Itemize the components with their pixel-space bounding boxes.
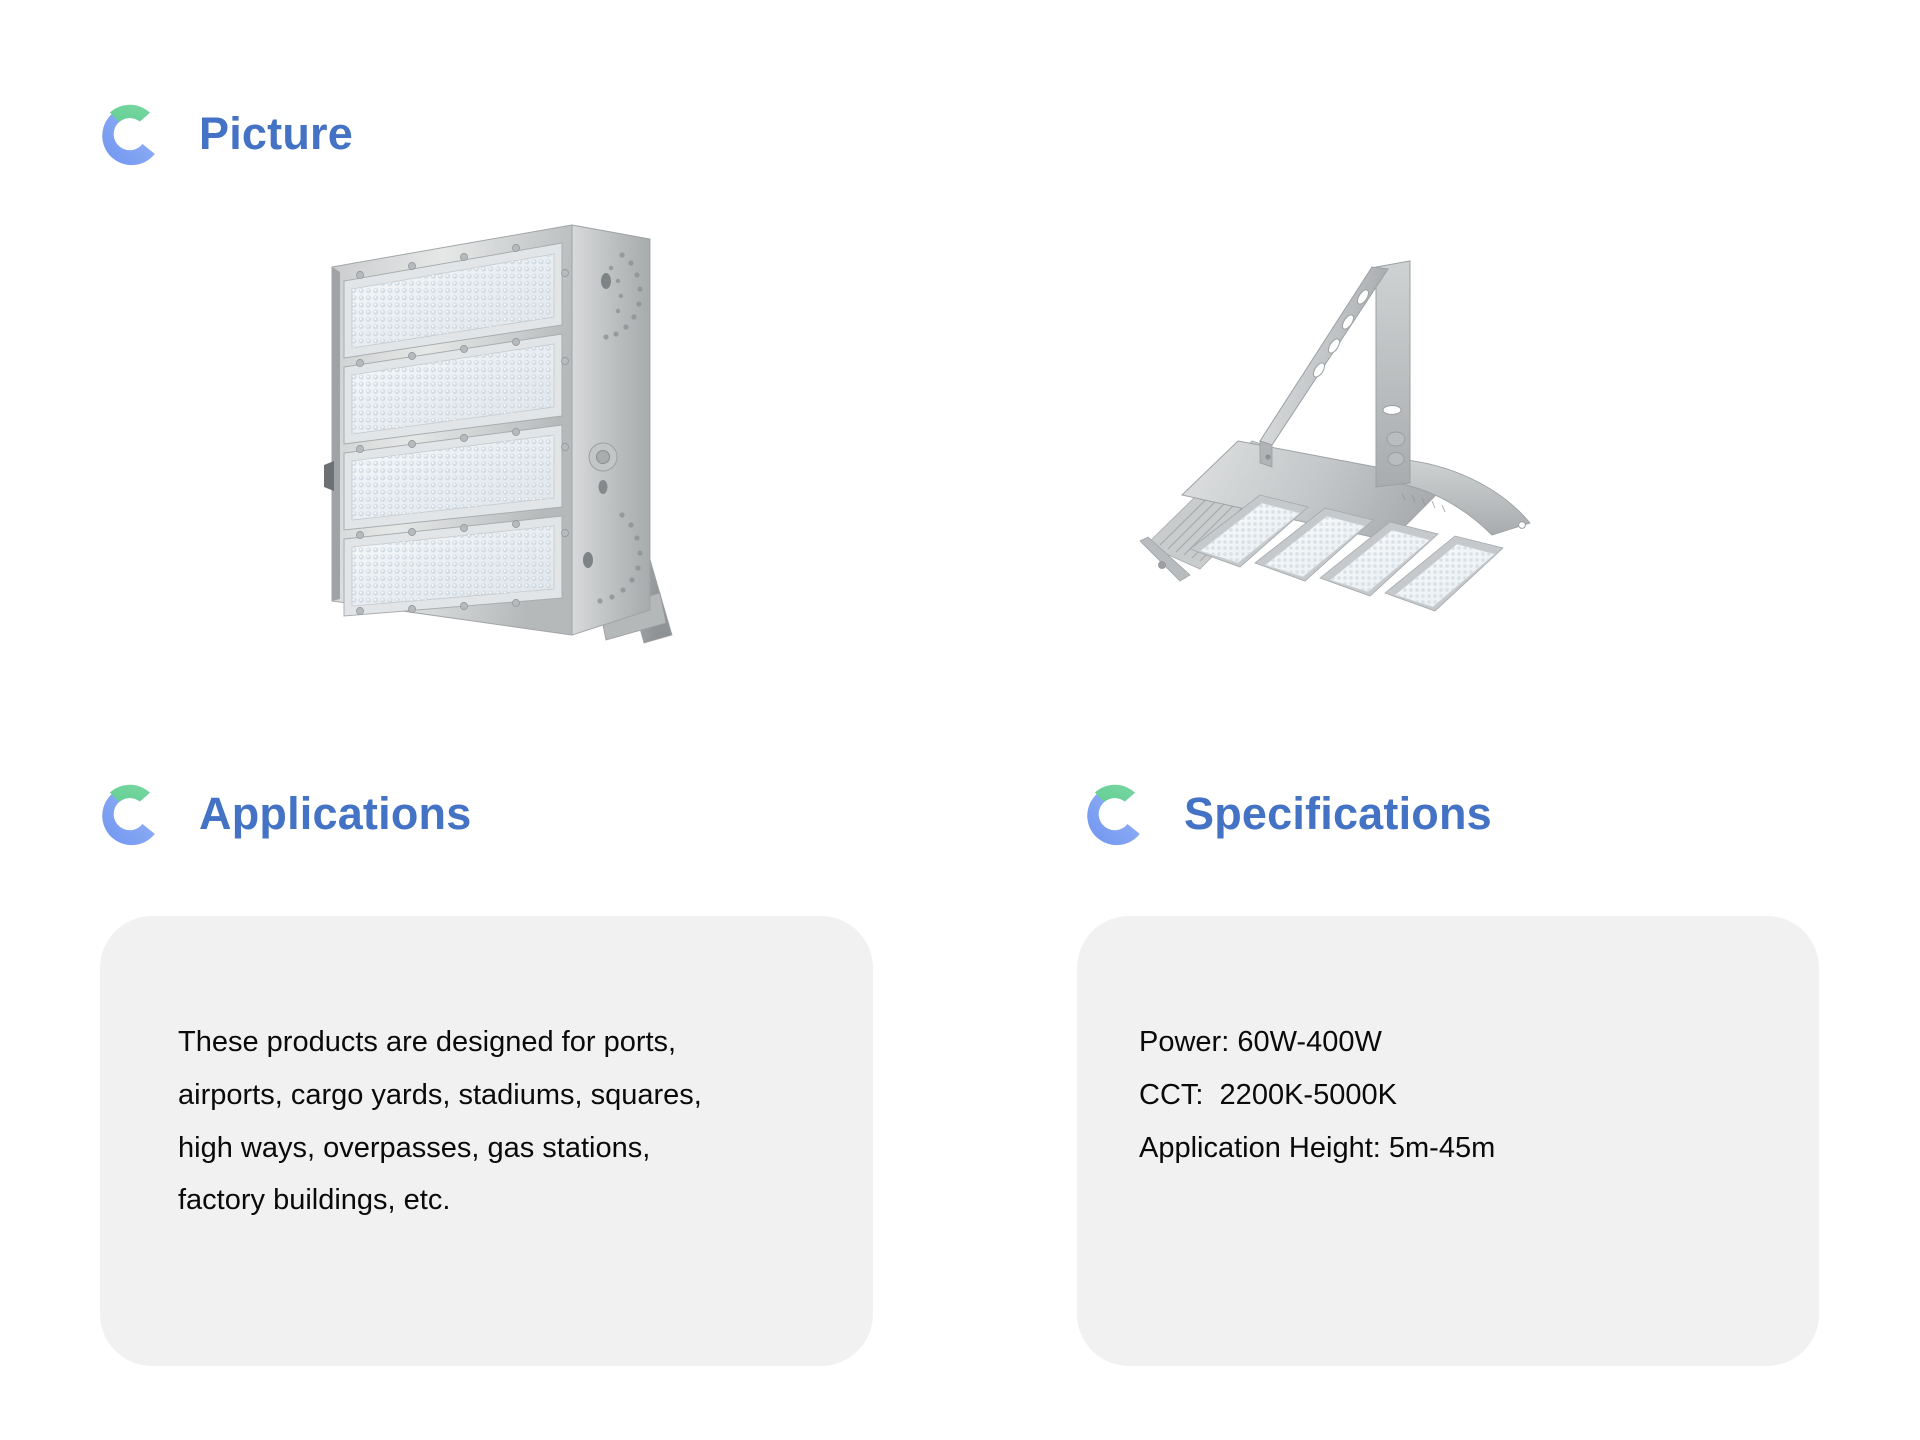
section-title-picture: Picture bbox=[199, 111, 353, 156]
specification-line-power: Power: 60W-400W bbox=[1139, 1016, 1759, 1069]
led-flood-light-angled-photo bbox=[300, 215, 730, 675]
picture-gallery bbox=[0, 215, 1920, 735]
section-header-applications: Applications bbox=[95, 778, 471, 848]
section-title-applications: Applications bbox=[199, 791, 471, 836]
applications-line: factory buildings, etc. bbox=[178, 1174, 798, 1227]
applications-line: high ways, overpasses, gas stations, bbox=[178, 1122, 798, 1175]
applications-line: airports, cargo yards, stadiums, squares… bbox=[178, 1069, 798, 1122]
led-flood-light-bracket-render bbox=[1120, 245, 1600, 665]
c-ring-logo-icon bbox=[1080, 778, 1150, 848]
section-header-specifications: Specifications bbox=[1080, 778, 1492, 848]
applications-card: These products are designed for ports, a… bbox=[100, 916, 873, 1366]
c-ring-logo-icon bbox=[95, 778, 165, 848]
specification-line-application-height: Application Height: 5m-45m bbox=[1139, 1122, 1759, 1175]
section-header-picture: Picture bbox=[95, 98, 353, 168]
specifications-card: Power: 60W-400W CCT: 2200K-5000K Applica… bbox=[1077, 916, 1819, 1366]
applications-text: These products are designed for ports, a… bbox=[178, 1016, 798, 1227]
c-ring-logo-icon bbox=[95, 98, 165, 168]
specifications-text: Power: 60W-400W CCT: 2200K-5000K Applica… bbox=[1139, 1016, 1759, 1174]
section-title-specifications: Specifications bbox=[1184, 791, 1492, 836]
applications-line: These products are designed for ports, bbox=[178, 1016, 798, 1069]
specification-line-cct: CCT: 2200K-5000K bbox=[1139, 1069, 1759, 1122]
product-spec-page: Picture bbox=[0, 0, 1920, 1440]
